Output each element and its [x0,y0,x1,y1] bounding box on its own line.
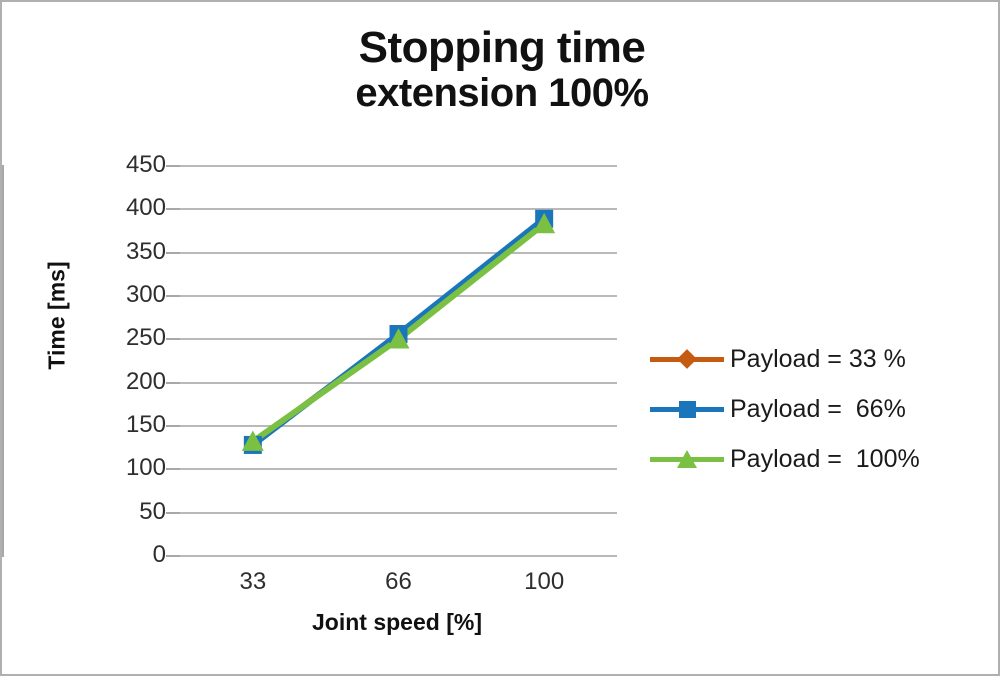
legend-marker [650,399,724,419]
legend-marker [650,449,724,469]
y-axis-tick-label: 300 [96,281,166,309]
y-axis-tick-mark [166,208,180,210]
legend-label: Payload = 66% [724,395,906,424]
chart-title-line1: Stopping time [152,24,852,72]
y-axis-tick-labels: 450400350300250200150100500 [88,165,166,555]
legend-item[interactable]: Payload = 100% [650,434,990,484]
legend-label: Payload = 33 % [724,345,906,374]
y-axis-tick-label: 400 [96,194,166,222]
chart-figure: Stopping time extension 100% Time [ms] J… [0,0,1000,676]
y-axis-tick-label: 50 [96,498,166,526]
y-axis-tick-label: 450 [96,151,166,179]
legend-symbol-triangle-icon [677,450,697,468]
chart-legend: Payload = 33 %Payload = 66%Payload = 100… [650,334,990,484]
y-axis-tick-mark [166,512,180,514]
y-axis-tick-label: 250 [96,324,166,352]
plot-area [180,165,617,555]
y-axis-tick-mark [166,295,180,297]
y-axis-title: Time [ms] [44,246,71,386]
y-axis-tick-mark [166,425,180,427]
y-axis-tick-mark [166,555,180,557]
chart-title: Stopping time extension 100% [152,24,852,115]
y-axis-tick-mark [166,468,180,470]
legend-marker [650,349,724,369]
y-axis-tick-label: 100 [96,454,166,482]
x-axis-tick-label: 66 [354,568,444,596]
legend-label: Payload = 100% [724,445,920,474]
legend-item[interactable]: Payload = 66% [650,384,990,434]
y-axis-tick-mark [166,382,180,384]
y-axis-tick-label: 350 [96,238,166,266]
gridline [180,555,617,557]
x-axis-tick-label: 100 [499,568,589,596]
y-axis-tick-label: 0 [96,541,166,569]
y-axis-tick-label: 150 [96,411,166,439]
x-axis-tick-label: 33 [208,568,298,596]
x-axis-title: Joint speed [%] [172,609,622,636]
y-axis-tick-mark [166,338,180,340]
legend-symbol-diamond-icon [677,349,697,369]
legend-symbol-square-icon [679,401,696,418]
y-axis-tick-label: 200 [96,368,166,396]
y-axis-tick-mark [166,165,180,167]
legend-item[interactable]: Payload = 33 % [650,334,990,384]
y-axis-line [2,165,4,557]
y-axis-tick-mark [166,252,180,254]
series-layer [180,165,617,555]
chart-title-line2: extension 100% [152,72,852,115]
